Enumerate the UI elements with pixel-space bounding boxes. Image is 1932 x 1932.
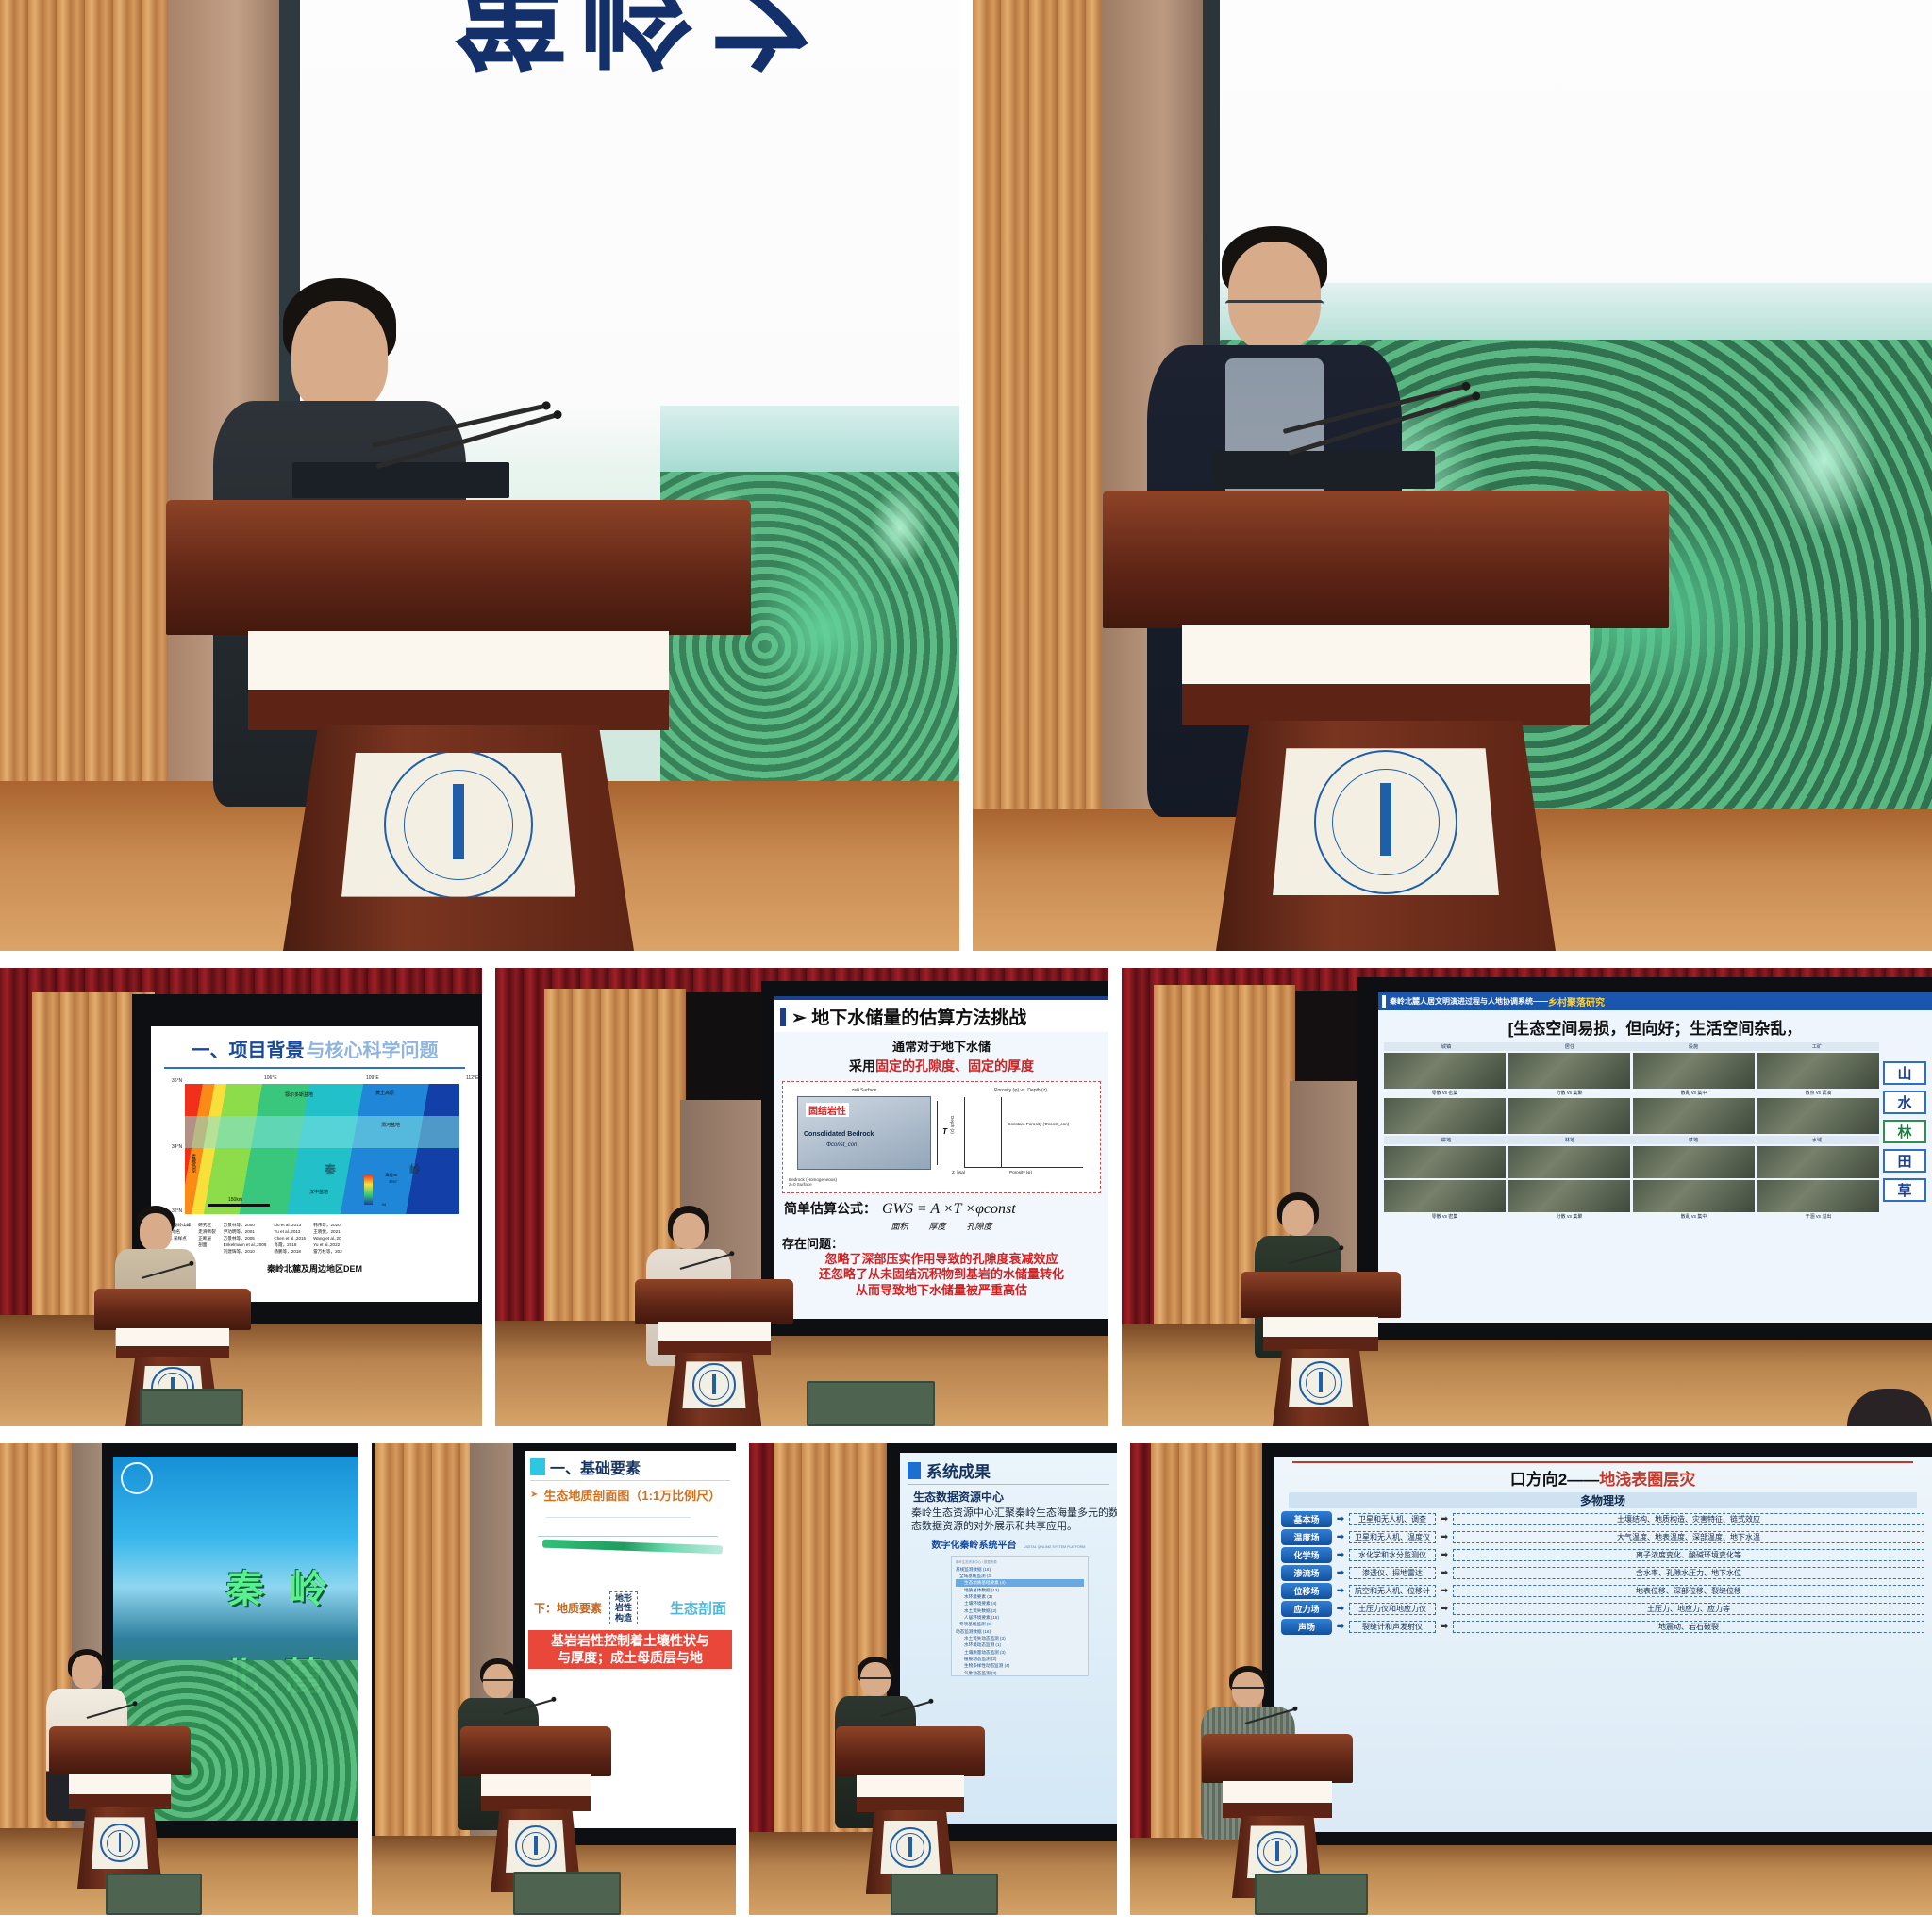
geologic-profile-figure — [530, 1508, 730, 1590]
field-badge: 温度场 — [1281, 1529, 1332, 1545]
chang-an-university-logo-icon — [1257, 1831, 1298, 1873]
projection-screen: 口方向2——地浅表圈层灾 多物理场 基本场➡卫星和无人机、调查➡土壤结构、地质构… — [1274, 1457, 1932, 1832]
grid-header-0: 城镇 — [1386, 1043, 1507, 1050]
side-tag-column: 山 水 林 田 草 — [1883, 1042, 1926, 1220]
formula-row: 简单估算公式： GWS = A ×T ×φconst — [784, 1199, 1099, 1218]
table-monitor — [807, 1381, 935, 1426]
podium-band-dark — [1263, 1337, 1378, 1351]
plot-y-bottom: Z_bsal — [952, 1170, 965, 1174]
grid-captions-row1: 零散 vs 密集 分散 vs 集聚 散乱 vs 集中 散点 vs 紧凑 — [1384, 1090, 1879, 1096]
dem-x-3: 112°E — [466, 1075, 478, 1081]
profile-label: 下：地质要素 — [534, 1600, 602, 1616]
problem-line-2: 从而导致地下水储量被严重高估 — [782, 1283, 1101, 1298]
podium — [49, 1726, 191, 1889]
arrow-right-icon: ➡ — [1439, 1568, 1450, 1578]
slide-title-row: 口方向2——地浅表圈层灾 — [1277, 1466, 1928, 1490]
photo-9-multiphysics-fields: 口方向2——地浅表圈层灾 多物理场 基本场➡卫星和无人机、调查➡土壤结构、地质构… — [1130, 1443, 1932, 1915]
output-cell: 地表位移、深部位移、裂缝位移 — [1453, 1585, 1924, 1598]
instrument-cell: 航空和无人机、位移计 — [1349, 1585, 1436, 1598]
title-rule — [908, 1484, 1109, 1485]
slide-title-main: 一、项目背景 — [192, 1041, 305, 1060]
plot-title: Porosity (φ) vs. Depth (z) — [947, 1088, 1094, 1093]
arrow-right-icon: ➡ — [1439, 1514, 1450, 1524]
speaker-head — [291, 301, 388, 414]
chang-an-university-logo-icon — [515, 1825, 557, 1867]
data-tree-item[interactable]: 地质总体数据 (12) — [956, 1587, 1084, 1593]
podium-band-dark — [857, 1797, 964, 1812]
table-monitor — [140, 1389, 243, 1426]
laptop — [292, 462, 509, 498]
slide-rural-settlement: 秦岭北麓人居文明演进过程与人地协调系统—— 乡村聚落研究 [生态空间易损，但向好… — [1378, 992, 1932, 1323]
formula-terms: 面积 厚度 孔隙度 — [774, 1220, 1108, 1232]
profile-label-row: 下：地质要素 地形 岩性 构造 生态剖面 — [525, 1590, 736, 1626]
chang-an-university-logo-icon — [692, 1363, 736, 1407]
arrow-right-icon: ➡ — [1439, 1550, 1450, 1560]
screen-sky-band — [660, 406, 959, 472]
podium-band-light — [248, 631, 669, 690]
output-cell: 地震动、岩石破裂 — [1453, 1621, 1924, 1634]
podium-top — [460, 1726, 611, 1776]
profile-band — [542, 1540, 723, 1555]
multiphysics-row: 化学场➡水化学和水分监测仪➡离子浓度变化、酸碱环境变化等 — [1281, 1547, 1924, 1563]
arrow-right-icon: ➡ — [1335, 1622, 1346, 1632]
cube-en-label: Consolidated Bedrock — [804, 1131, 874, 1138]
table-monitor — [513, 1872, 621, 1915]
plot-note: Constant Porosity (Φconst_con) — [1008, 1122, 1069, 1126]
satellite-tile — [1633, 1053, 1755, 1089]
podium-band-dark — [1182, 684, 1590, 725]
title-bar-icon — [908, 1462, 921, 1479]
dem-map-figure: 36°N 34°N 32°N 106°E 109°E 112°E 鄂尔多斯盆地 … — [166, 1074, 463, 1216]
podium-plate — [506, 1820, 566, 1873]
formula-label: 简单估算公式： — [784, 1199, 876, 1218]
podium-top — [94, 1289, 251, 1330]
arrow-right-icon: ➡ — [1335, 1604, 1346, 1614]
slide-body-line-0: 秦岭生态资源中心汇聚秦岭生态海量多元的数 — [900, 1505, 1117, 1520]
photo-3-project-background: 一、项目背景 与核心科学问题 36°N 34°N 32°N 106°E 109°… — [0, 968, 482, 1426]
banner-yellow-text: 乡村聚落研究 — [1548, 994, 1605, 1008]
satellite-tiles-r3 — [1384, 1146, 1879, 1178]
photo-2-speaker-podium — [973, 0, 1932, 951]
dem-label-ordos: 鄂尔多斯盆地 — [285, 1091, 313, 1098]
multiphysics-row: 位移场➡航空和无人机、位移计➡地表位移、深部位移、裂缝位移 — [1281, 1583, 1924, 1599]
grid-caption-2: 散乱 vs 集中 — [1633, 1090, 1755, 1096]
dem-x-1: 106°E — [264, 1075, 277, 1081]
slide-body-line-1: 态数据资源的对外展示和共享应用。 — [900, 1520, 1117, 1533]
slide-subtitle: 生态地质剖面图（1:1万比例尺） — [543, 1486, 721, 1504]
podium-plate — [880, 1821, 940, 1874]
grid-caption-1: 分散 vs 集聚 — [1508, 1090, 1630, 1096]
dashed-tag-0: 地形 — [615, 1593, 632, 1603]
platform-screenshot: 秦岭生态资源中心 / 数据资源 基线监测数据 (16)全域基线监测 (3)生态地… — [951, 1556, 1089, 1676]
satellite-tile — [1508, 1146, 1630, 1178]
chang-an-university-logo-icon — [100, 1824, 139, 1862]
podium — [635, 1279, 793, 1426]
ref-3-4: 雷万杉等，202 — [313, 1248, 342, 1255]
photo-1-speaker-podium: 第岭之 — [0, 0, 959, 951]
collage-row-bottom: 秦 岭 北 麓 — [0, 1443, 1932, 1915]
ref-2-0: Liu et al.,2013 — [274, 1222, 306, 1228]
grid-header-2: 设施 — [1633, 1043, 1754, 1050]
dem-scalebar — [208, 1204, 270, 1207]
arrow-right-icon: ➡ — [1335, 1514, 1346, 1524]
stage-floor — [495, 1321, 1108, 1426]
red-banner: 基岩岩性控制着土壤性状与 与厚度；成土母质层与地 — [528, 1630, 732, 1669]
cube-body: 固结岩性 Consolidated Bedrock Φconst_con T — [797, 1096, 931, 1170]
multiphysics-row: 温度场➡卫星和无人机、温度仪➡大气温度、地表温度、深部温度、地下水温 — [1281, 1529, 1924, 1545]
laptop — [1213, 451, 1435, 489]
chang-an-university-logo-icon — [121, 1462, 153, 1494]
podium-top — [836, 1726, 985, 1776]
dem-label-tibet: 青藏高原 — [191, 1154, 197, 1173]
title-top-rule — [1292, 1461, 1913, 1463]
ref-2-3: 肖霞，2018 — [274, 1241, 306, 1248]
podium-band-dark — [116, 1346, 229, 1358]
slide-subtitle-row: ➤ 生态地质剖面图（1:1万比例尺） — [525, 1481, 736, 1508]
ref-3-3: Yu et al.,2022 — [313, 1241, 342, 1248]
problem-label: 存在问题： — [782, 1234, 1101, 1252]
podium-band-dark — [248, 690, 669, 730]
arrow-right-icon: ➡ — [1439, 1604, 1450, 1614]
output-cell: 土压力、地应力、应力等 — [1453, 1603, 1924, 1616]
platform-title-row: 数字化秦岭系统平台 DIGITAL QINLING SYSTEM PLATFOR… — [900, 1536, 1117, 1553]
grid-captions-row2: 零散 vs 密集 分散 vs 集聚 散乱 vs 集中 干涸 vs 溢出 — [1384, 1213, 1879, 1220]
header-bar-icon — [780, 1008, 786, 1026]
photo-collage: 第岭之 — [0, 0, 1932, 1932]
profile-guide — [546, 1517, 691, 1518]
slide-title-row: 一、基础要素 — [525, 1451, 736, 1480]
slide-header: ➢ 地下水储量的估算方法挑战 — [774, 996, 1108, 1032]
dem-colorbar-min: 34 — [382, 1202, 386, 1207]
ref-2-4: 杨鹏等，2018 — [274, 1248, 306, 1255]
satellite-tile — [1508, 1098, 1630, 1134]
podium-band-light — [481, 1774, 590, 1796]
satellite-tile — [1757, 1146, 1879, 1178]
plot-axes: Constant Porosity (Φconst_con) Depth (z)… — [964, 1097, 1083, 1168]
chang-an-university-logo-icon — [1314, 750, 1458, 894]
podium-band-light — [1182, 625, 1590, 684]
data-tree-item[interactable]: 生态地质基础要素 (4) — [956, 1579, 1084, 1586]
ref-3-0: 韩伟等，2020 — [313, 1222, 342, 1228]
dashed-tag-2: 构造 — [615, 1613, 632, 1623]
grid-header2-3: 水域 — [1757, 1137, 1877, 1143]
problem-line-0: 忽略了深部压实作用导致的孔隙度衰减效应 — [782, 1252, 1101, 1267]
photo-5-rural-settlement: 秦岭北麓人居文明演进过程与人地协调系统—— 乡村聚落研究 [生态空间易损，但向好… — [1122, 968, 1932, 1426]
data-tree-item[interactable]: 水环境要素 (3) — [956, 1593, 1084, 1600]
diagram-panel: z=0 Surface 固结岩性 Consolidated Bedrock Φc… — [782, 1081, 1101, 1193]
side-tag-1: 水 — [1883, 1091, 1926, 1114]
porosity-plot: Porosity (φ) vs. Depth (z) Constant Poro… — [947, 1088, 1094, 1187]
collage-row-top: 第岭之 — [0, 0, 1932, 951]
slide-section: 生态数据资源中心 — [900, 1489, 1117, 1505]
eyeglasses-icon — [859, 1677, 891, 1687]
speaker-head — [1282, 1200, 1314, 1236]
ref-2-2: Chen et al.,2015 — [274, 1235, 306, 1241]
slide-title-red: 地浅表圈层灾 — [1599, 1471, 1695, 1489]
arrow-right-icon: ➡ — [1335, 1586, 1346, 1596]
ref-3-2: Wang et al.,20 — [313, 1235, 342, 1241]
arrow-right-icon: ➡ — [1335, 1532, 1346, 1542]
slide-title-row: 系统成果 — [900, 1453, 1117, 1484]
satellite-tile — [1384, 1180, 1506, 1212]
dem-colorbar — [364, 1174, 373, 1205]
podium-band-light — [1223, 1781, 1331, 1803]
instrument-cell: 裂缝计和声发射仪 — [1349, 1621, 1436, 1634]
red-banner-line-1: 与厚度；成土母质层与地 — [530, 1650, 730, 1667]
references-col-3: 韩伟等，2020 王晓悦，2021 Wang et al.,20 Yu et a… — [313, 1222, 342, 1256]
multiphysics-row: 声场➡裂缝计和声发射仪➡地震动、岩石破裂 — [1281, 1619, 1924, 1635]
dem-label-hanzhong: 汉中盆地 — [309, 1189, 328, 1195]
side-tag-3: 田 — [1883, 1149, 1926, 1173]
grid-header-3: 工矿 — [1757, 1043, 1877, 1050]
photo-8-system-results: 系统成果 生态数据资源中心 秦岭生态资源中心汇聚秦岭生态海量多元的数 态数据资源… — [749, 1443, 1117, 1915]
dem-x-2: 109°E — [366, 1075, 379, 1081]
speaker-head — [72, 1655, 102, 1689]
podium-top — [635, 1279, 793, 1324]
references-col-2: Liu et al.,2013 Yu et al.,2013 Chen et a… — [274, 1222, 306, 1256]
dem-scalebar-label: 150km — [228, 1197, 242, 1203]
podium-band-dark — [658, 1341, 772, 1355]
grid-header2-1: 林地 — [1509, 1137, 1630, 1143]
arrow-right-icon: ➡ — [1439, 1622, 1450, 1632]
dem-basin-band — [185, 1116, 459, 1148]
output-cell: 大气温度、地表温度、深部温度、地下水温 — [1453, 1531, 1924, 1544]
dem-colorbar-max: 3767 — [389, 1179, 397, 1184]
podium-plate — [341, 753, 575, 897]
podium — [1103, 491, 1669, 951]
data-tree-item[interactable]: 植被动态监测 (2) — [956, 1656, 1084, 1662]
instrument-cell: 水化学和水分监测仪 — [1349, 1549, 1436, 1562]
multiphysics-row: 渗流场➡渗透仪、探地雷达➡含水率、孔隙水压力、地下水位 — [1281, 1565, 1924, 1581]
photo-4-groundwater-slide: ➢ 地下水储量的估算方法挑战 通常对于地下水储 采用固定的孔隙度、固定的厚度 z… — [495, 968, 1108, 1426]
ref-1-1: 尹功明等，2001 — [224, 1228, 267, 1235]
podium-top — [1103, 491, 1669, 628]
grid-caption-0: 零散 vs 密集 — [1384, 1090, 1506, 1096]
eyeglasses-icon — [1231, 1687, 1265, 1696]
field-badge: 声场 — [1281, 1619, 1332, 1635]
grid-header2-2: 草地 — [1633, 1137, 1754, 1143]
plot-y-label: Depth (z) — [950, 1116, 955, 1134]
eyeglasses-icon — [482, 1679, 514, 1689]
satellite-tile — [1384, 1098, 1506, 1134]
formula-term-1: 厚度 — [928, 1220, 945, 1232]
cyan-text: 生态剖面 — [670, 1598, 726, 1618]
grid-header-1: 居住 — [1509, 1043, 1630, 1050]
cube-tag: 固结岩性 — [806, 1103, 849, 1117]
podium-band-light — [658, 1322, 772, 1341]
grid-header2-0: 耕地 — [1386, 1137, 1507, 1143]
multiphysics-row: 应力场➡土压力仪和地应力仪➡土压力、地应力、应力等 — [1281, 1601, 1924, 1617]
eyeglasses-icon — [1225, 300, 1324, 318]
screen-headline: 第岭之 — [453, 0, 832, 106]
formula-term-2: 孔隙度 — [967, 1220, 992, 1232]
projection-screen: ➢ 地下水储量的估算方法挑战 通常对于地下水储 采用固定的孔隙度、固定的厚度 z… — [774, 996, 1108, 1319]
podium-plate — [1289, 1358, 1353, 1408]
field-badge: 应力场 — [1281, 1601, 1332, 1617]
output-cell: 含水率、孔隙水压力、地下水位 — [1453, 1567, 1924, 1580]
speaker-head — [140, 1213, 172, 1251]
data-tree-item[interactable]: 人居环境要素 (15) — [956, 1614, 1084, 1621]
podium-band-light — [1263, 1317, 1378, 1337]
slide-legend: ☆ 秦岭山峰 ○ 地名 △ 采样点 研究区 走滑断裂 正断层 剖面 — [168, 1222, 461, 1256]
podium — [166, 500, 751, 951]
podium-plate — [682, 1361, 745, 1408]
podium-plate — [1273, 748, 1499, 895]
grid-caption2-2: 散乱 vs 集中 — [1633, 1213, 1755, 1220]
speaker-head — [673, 1213, 705, 1249]
satellite-tiles-r1 — [1384, 1053, 1879, 1089]
data-tree-item[interactable]: 生物多样性动态监测 (4) — [956, 1662, 1084, 1669]
photo-6-qinling-title: 秦 岭 北 麓 — [0, 1443, 358, 1915]
dem-label-weihe: 渭河盆地 — [381, 1122, 400, 1128]
screenshot-breadcrumb: 秦岭生态资源中心 / 数据资源 — [956, 1559, 1084, 1564]
dem-y-mid: 34°N — [172, 1144, 182, 1150]
ref-1-2: 万景林等，2005 — [224, 1235, 267, 1241]
platform-subtitle: DIGITAL QINLING SYSTEM PLATFORM — [1024, 1545, 1085, 1549]
slide-banner: 秦岭北麓人居文明演进过程与人地协调系统—— 乡村聚落研究 — [1378, 992, 1932, 1010]
plot-x-label: Porosity (φ) — [947, 1170, 1094, 1174]
slide-subtitle: 多物理场 — [1289, 1492, 1917, 1508]
arrow-right-icon: ➡ — [1335, 1568, 1346, 1578]
multiphysics-row: 基本场➡卫星和无人机、调查➡土壤结构、地质构造、灾害特征、链式效应 — [1281, 1511, 1924, 1527]
field-badge: 基本场 — [1281, 1511, 1332, 1527]
chang-an-university-logo-icon — [384, 750, 533, 899]
ref-1-0: 万景林等，2000 — [224, 1222, 267, 1228]
slide-title-line1: 秦 岭 — [226, 1558, 335, 1613]
cube-legend-2: z=0 Surface — [789, 1182, 940, 1187]
arrow-right-icon: ➡ — [1439, 1532, 1450, 1542]
data-tree-item[interactable]: 全域基线监测 (3) — [956, 1573, 1084, 1579]
table-monitor — [106, 1874, 202, 1915]
side-tag-0: 山 — [1883, 1061, 1926, 1085]
ref-3-1: 王晓悦，2021 — [313, 1228, 342, 1235]
podium-band-light — [116, 1328, 229, 1346]
podium-band-dark — [481, 1796, 590, 1811]
data-tree-item[interactable]: 水土流失数据 (2) — [956, 1607, 1084, 1614]
podium-top — [166, 500, 751, 635]
podium-top — [1202, 1734, 1353, 1783]
podium-plate — [92, 1817, 148, 1869]
slide-title-sub: 与核心科学问题 — [307, 1041, 439, 1060]
photo-7-basic-elements: 一、基础要素 ➤ 生态地质剖面图（1:1万比例尺） 下：地质要素 — [372, 1443, 736, 1915]
podium — [460, 1726, 611, 1892]
field-badge: 渗流场 — [1281, 1565, 1332, 1581]
podium-band-dark — [69, 1794, 171, 1808]
dem-y-top: 36°N — [172, 1078, 182, 1084]
slide-title-black: 口方向2—— — [1510, 1471, 1599, 1489]
podium-plate — [1247, 1825, 1307, 1878]
table-monitor — [1255, 1874, 1368, 1915]
satellite-tile — [1633, 1180, 1755, 1212]
slide-header-text: ➢ 地下水储量的估算方法挑战 — [791, 1004, 1026, 1029]
dashed-tag-1: 岩性 — [615, 1603, 632, 1612]
red-banner-line-0: 基岩岩性控制着土壤性状与 — [530, 1633, 730, 1650]
output-cell: 土壤结构、地质构造、灾害特征、链式效应 — [1453, 1513, 1924, 1526]
title-underline — [164, 1067, 465, 1069]
grid-caption-3: 散点 vs 紧凑 — [1757, 1090, 1879, 1096]
dem-label-loess: 黄土高原 — [375, 1090, 394, 1096]
slide-multiphysics: 口方向2——地浅表圈层灾 多物理场 基本场➡卫星和无人机、调查➡土壤结构、地质构… — [1274, 1457, 1932, 1832]
line2-prefix: 采用 — [849, 1058, 875, 1074]
data-tree-item[interactable]: 动态监测数据 (16) — [956, 1628, 1084, 1635]
podium-top — [49, 1726, 191, 1775]
ref-2-1: Yu et al.,2013 — [274, 1228, 306, 1235]
satellite-tile — [1757, 1053, 1879, 1089]
grid-headers-row1: 城镇 居住 设施 工矿 — [1384, 1042, 1879, 1051]
satellite-tile — [1508, 1180, 1630, 1212]
problem-block: 存在问题： 忽略了深部压实作用导致的孔隙度衰减效应 还忽略了从未固结沉积物到基岩… — [782, 1234, 1101, 1298]
multiphysics-rows: 基本场➡卫星和无人机、调查➡土壤结构、地质构造、灾害特征、链式效应温度场➡卫星和… — [1277, 1511, 1928, 1635]
data-tree-list[interactable]: 基线监测数据 (16)全域基线监测 (3)生态地质基础要素 (4)地质总体数据 … — [956, 1566, 1084, 1676]
problem-line-1: 还忽略了从未固结沉积物到基岩的水储量转化 — [782, 1267, 1101, 1282]
podium — [1241, 1272, 1401, 1426]
satellite-tiles-r4 — [1384, 1180, 1879, 1212]
arrow-right-icon: ➡ — [1335, 1550, 1346, 1560]
podium-band-light — [69, 1774, 171, 1794]
output-cell: 离子浓度变化、酸碱环境变化等 — [1453, 1549, 1924, 1562]
references-col-1: 万景林等，2000 尹功明等，2001 万景林等，2005 Enkelmann … — [224, 1222, 267, 1256]
banner-black-text: 秦岭北麓人居文明演进过程与人地协调系统—— — [1390, 996, 1548, 1007]
data-tree-item[interactable]: 基线监测数据 (16) — [956, 1566, 1084, 1573]
collage-row-middle: 一、项目背景 与核心科学问题 36°N 34°N 32°N 106°E 109°… — [0, 968, 1932, 1426]
satellite-tile — [1384, 1053, 1506, 1089]
podium — [836, 1726, 985, 1894]
chang-an-university-logo-icon — [890, 1827, 930, 1868]
grid-caption2-1: 分散 vs 集聚 — [1508, 1213, 1630, 1220]
slide-groundwater: ➢ 地下水储量的估算方法挑战 通常对于地下水储 采用固定的孔隙度、固定的厚度 z… — [774, 996, 1108, 1319]
satellite-tiles-r2 — [1384, 1098, 1879, 1134]
profile-line — [538, 1536, 718, 1537]
arrow-right-icon: ➡ — [1439, 1586, 1450, 1596]
formula-expression: GWS = A ×T ×φconst — [882, 1201, 1016, 1218]
data-tree-item[interactable]: 土壤质量动态监测 (3) — [956, 1649, 1084, 1656]
satellite-tile — [1757, 1180, 1879, 1212]
data-tree-item[interactable]: 水土流失动态监测 (3) — [956, 1635, 1084, 1641]
slide-title: 一、基础要素 — [550, 1456, 641, 1478]
cube-thickness-arrow — [937, 1101, 938, 1165]
podium-band-light — [857, 1775, 964, 1797]
data-tree-item[interactable]: 水环境动态监测 (1) — [956, 1641, 1084, 1648]
slide-title: 系统成果 — [926, 1458, 991, 1482]
instrument-cell: 卫星和无人机、温度仪 — [1349, 1531, 1436, 1544]
grid-caption2-0: 零散 vs 密集 — [1384, 1213, 1506, 1220]
satellite-tile — [1633, 1098, 1755, 1134]
dem-colorbar-label: 高程/m — [386, 1173, 397, 1178]
cube-symbol: Φconst_con — [826, 1142, 857, 1148]
chang-an-university-logo-icon — [1299, 1361, 1342, 1405]
instrument-cell: 渗透仪、探地雷达 — [1349, 1567, 1436, 1580]
satellite-grid: 城镇 居住 设施 工矿 — [1384, 1042, 1879, 1220]
speaker-head — [1228, 241, 1321, 351]
platform-title: 数字化秦岭系统平台 — [932, 1541, 1017, 1551]
plot-const-line — [1001, 1097, 1002, 1167]
data-tree-item[interactable]: 土壤环境要素 (4) — [956, 1600, 1084, 1607]
satellite-tile — [1384, 1146, 1506, 1178]
title-bar-icon — [530, 1458, 545, 1475]
grid-caption2-3: 干涸 vs 溢出 — [1757, 1213, 1879, 1220]
podium-band-dark — [1223, 1803, 1331, 1818]
data-tree-item[interactable]: 专项基线监测 (9) — [956, 1621, 1084, 1627]
banner-bar-icon — [1382, 995, 1386, 1008]
slide-line1: 通常对于地下水储 — [774, 1037, 1108, 1055]
instrument-cell: 卫星和无人机、调查 — [1349, 1513, 1436, 1526]
data-tree-item[interactable]: 气象动态监测 (3) — [956, 1670, 1084, 1676]
instrument-cell: 土压力仪和地应力仪 — [1349, 1603, 1436, 1616]
ref-1-3: Enkelmann et al.,2006 — [224, 1241, 267, 1248]
field-badge: 位移场 — [1281, 1583, 1332, 1599]
line2-red: 固定的孔隙度、固定的厚度 — [875, 1058, 1034, 1074]
cube-surface-label: z=0 Surface — [789, 1088, 940, 1093]
